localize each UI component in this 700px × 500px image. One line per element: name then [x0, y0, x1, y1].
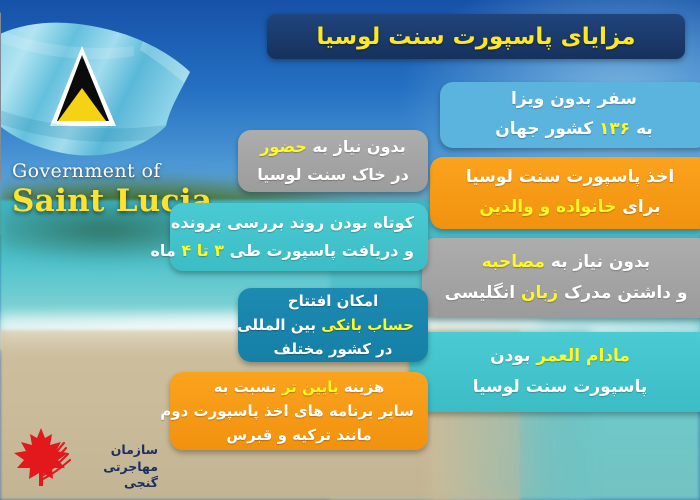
- bubble-text: و دریافت پاسپورت طی: [224, 241, 414, 260]
- bubble-line: پاسپورت سنت لوسیا: [424, 372, 696, 403]
- bubble-line: در خاک سنت لوسیا: [252, 161, 414, 189]
- bubble-line: مادام العمر بودن: [424, 341, 696, 372]
- bubble-text: سفر بدون ویزا: [511, 89, 637, 109]
- bubble-text: هزینه: [338, 378, 384, 396]
- bubble-text: مانند ترکیه و قبرس: [226, 426, 371, 444]
- bubble-line: سایر برنامه های اخذ پاسپورت دوم: [184, 399, 414, 423]
- bubble-text: نسبت به: [214, 378, 282, 396]
- bubble-line: و دریافت پاسپورت طی ۳ تا ۴ ماه: [184, 237, 414, 265]
- benefit-bubble-lower-cost[interactable]: هزینه پایین تر نسبت بهسایر برنامه های اخ…: [170, 372, 428, 450]
- bubble-line: در کشور مختلف: [252, 337, 414, 361]
- bubble-text: امکان افتتاح: [288, 292, 378, 310]
- benefit-bubble-short-processing-time[interactable]: کوتاه بودن روند بررسی پروندهو دریافت پاس…: [170, 203, 428, 271]
- bubble-highlight-text: حضور: [260, 137, 307, 156]
- maple-leaf-icon: [10, 426, 74, 488]
- bubble-highlight-text: مصاحبه: [482, 252, 545, 272]
- page-title: مزایای پاسپورت سنت لوسیا: [317, 24, 636, 50]
- bubble-highlight-text: حساب بانکی: [321, 316, 414, 334]
- bubble-highlight-text: پایین تر: [282, 378, 339, 396]
- benefit-bubble-lifetime-passport[interactable]: مادام العمر بودنپاسپورت سنت لوسیا: [410, 332, 700, 412]
- bubble-text: و داشتن مدرک: [558, 283, 687, 303]
- benefit-bubble-international-bank[interactable]: امکان افتتاححساب بانکی بین المللیدر کشور…: [238, 288, 428, 362]
- bubble-highlight-text: مادام العمر: [536, 346, 630, 366]
- bubble-text: بدون نیاز به: [545, 252, 650, 272]
- bubble-highlight-text: زبان: [521, 283, 558, 303]
- bubble-line: سفر بدون ویزا: [454, 85, 694, 115]
- agency-logo-line1: سازمان: [72, 442, 158, 459]
- bubble-highlight-text: ۳ تا ۴: [181, 241, 224, 260]
- bubble-line: اخذ پاسپورت سنت لوسیا: [444, 163, 696, 193]
- page-title-banner: مزایای پاسپورت سنت لوسیا: [267, 14, 685, 59]
- bubble-text: انگلیسی: [445, 283, 521, 303]
- bubble-highlight-text: ۱۳۶: [599, 119, 630, 139]
- flag-pole: [0, 12, 1, 182]
- bubble-text: کشور جهان: [495, 119, 599, 139]
- bubble-text: بدون نیاز به: [307, 137, 406, 156]
- agency-logo-line2: مهاجرتی گنجی: [72, 459, 158, 492]
- bubble-text: بودن: [490, 346, 536, 366]
- saint-lucia-flag-icon: [0, 8, 214, 183]
- bubble-text: در کشور مختلف: [273, 340, 392, 358]
- benefit-bubble-no-interview[interactable]: بدون نیاز به مصاحبهو داشتن مدرک زبان انگ…: [422, 238, 700, 318]
- bubble-line: به ۱۳۶ کشور جهان: [454, 115, 694, 145]
- bubble-line: حساب بانکی بین المللی: [252, 313, 414, 337]
- bubble-line: کوتاه بودن روند بررسی پرونده: [184, 209, 414, 237]
- agency-logo-text: سازمان مهاجرتی گنجی: [72, 442, 158, 492]
- bubble-line: بدون نیاز به حضور: [252, 133, 414, 161]
- benefit-bubble-no-presence-required[interactable]: بدون نیاز به حضوردر خاک سنت لوسیا: [238, 130, 428, 192]
- agency-logo: سازمان مهاجرتی گنجی: [10, 424, 160, 492]
- bubble-text: به: [630, 119, 653, 139]
- bubble-line: برای خانواده و والدین: [444, 193, 696, 223]
- flag-svg: [0, 8, 214, 183]
- bubble-text: سایر برنامه های اخذ پاسپورت دوم: [160, 402, 414, 420]
- bubble-highlight-text: خانواده و والدین: [479, 197, 616, 217]
- government-prefix: Government of: [12, 160, 232, 182]
- bubble-text: برای: [616, 197, 660, 217]
- bubble-text: بین المللی: [237, 316, 321, 334]
- bubble-text: ماه: [150, 241, 181, 260]
- bubble-line: مانند ترکیه و قبرس: [184, 423, 414, 447]
- benefit-bubble-visa-free-travel[interactable]: سفر بدون ویزابه ۱۳۶ کشور جهان: [440, 82, 700, 148]
- bubble-text: اخذ پاسپورت سنت لوسیا: [466, 167, 674, 187]
- bubble-line: بدون نیاز به مصاحبه: [436, 247, 696, 278]
- bubble-line: و داشتن مدرک زبان انگلیسی: [436, 278, 696, 309]
- bubble-text: کوتاه بودن روند بررسی پرونده: [171, 213, 414, 232]
- bubble-text: در خاک سنت لوسیا: [257, 165, 409, 184]
- bubble-line: هزینه پایین تر نسبت به: [184, 375, 414, 399]
- bubble-line: امکان افتتاح: [252, 289, 414, 313]
- bubble-text: پاسپورت سنت لوسیا: [473, 377, 648, 397]
- benefit-bubble-family-passport[interactable]: اخذ پاسپورت سنت لوسیابرای خانواده و والد…: [430, 157, 700, 229]
